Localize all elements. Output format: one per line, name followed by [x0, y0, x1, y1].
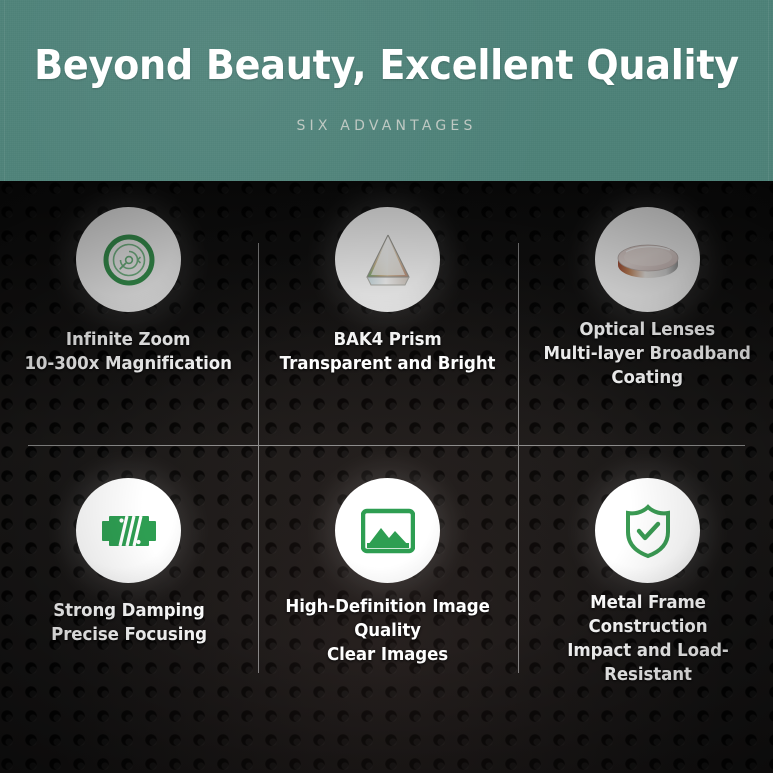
image-icon	[361, 507, 415, 555]
damping-icon	[98, 508, 160, 554]
feature-cell-hd-image-quality[interactable]: High-Definition Image Quality Clear Imag…	[259, 478, 516, 667]
feature-cell-strong-damping[interactable]: Strong Damping Precise Focusing	[0, 478, 257, 647]
poster-header: Beyond Beauty, Excellent Quality SIX ADV…	[0, 0, 773, 181]
feature-caption: Strong Damping Precise Focusing	[45, 599, 212, 647]
feature-cell-metal-frame[interactable]: Metal Frame Construction Impact and Load…	[519, 478, 773, 687]
feature-grid: Infinite Zoom 10-300x Magnification	[0, 181, 773, 773]
feature-cell-infinite-zoom[interactable]: Infinite Zoom 10-300x Magnification	[0, 207, 257, 376]
zoom-target-icon	[99, 230, 159, 290]
feature-icon-badge	[335, 478, 440, 583]
feature-caption: Metal Frame Construction Impact and Load…	[561, 591, 734, 687]
shield-check-icon	[620, 502, 676, 560]
feature-caption: BAK4 Prism Transparent and Bright	[274, 328, 501, 376]
feature-cell-bak4-prism[interactable]: BAK4 Prism Transparent and Bright	[259, 207, 516, 376]
divider-horizontal	[28, 445, 745, 446]
feature-caption: High-Definition Image Quality Clear Imag…	[280, 595, 496, 667]
page-subtitle: SIX ADVANTAGES	[0, 118, 773, 134]
header-left-edge-line	[4, 0, 5, 181]
page-title: Beyond Beauty, Excellent Quality	[27, 40, 746, 90]
feature-caption: Infinite Zoom 10-300x Magnification	[19, 328, 238, 376]
feature-icon-badge	[335, 207, 440, 312]
feature-icon-badge	[595, 207, 700, 312]
header-right-edge-line	[768, 0, 769, 181]
promo-poster: Beyond Beauty, Excellent Quality SIX ADV…	[0, 0, 773, 773]
feature-icon-badge	[76, 478, 181, 583]
feature-icon-badge	[595, 478, 700, 583]
feature-cell-optical-lenses[interactable]: Optical Lenses Multi-layer Broadband Coa…	[519, 207, 773, 390]
optical-lens-icon	[612, 234, 684, 286]
feature-icon-badge	[76, 207, 181, 312]
feature-caption: Optical Lenses Multi-layer Broadband Coa…	[538, 318, 757, 390]
prism-icon	[356, 230, 420, 290]
